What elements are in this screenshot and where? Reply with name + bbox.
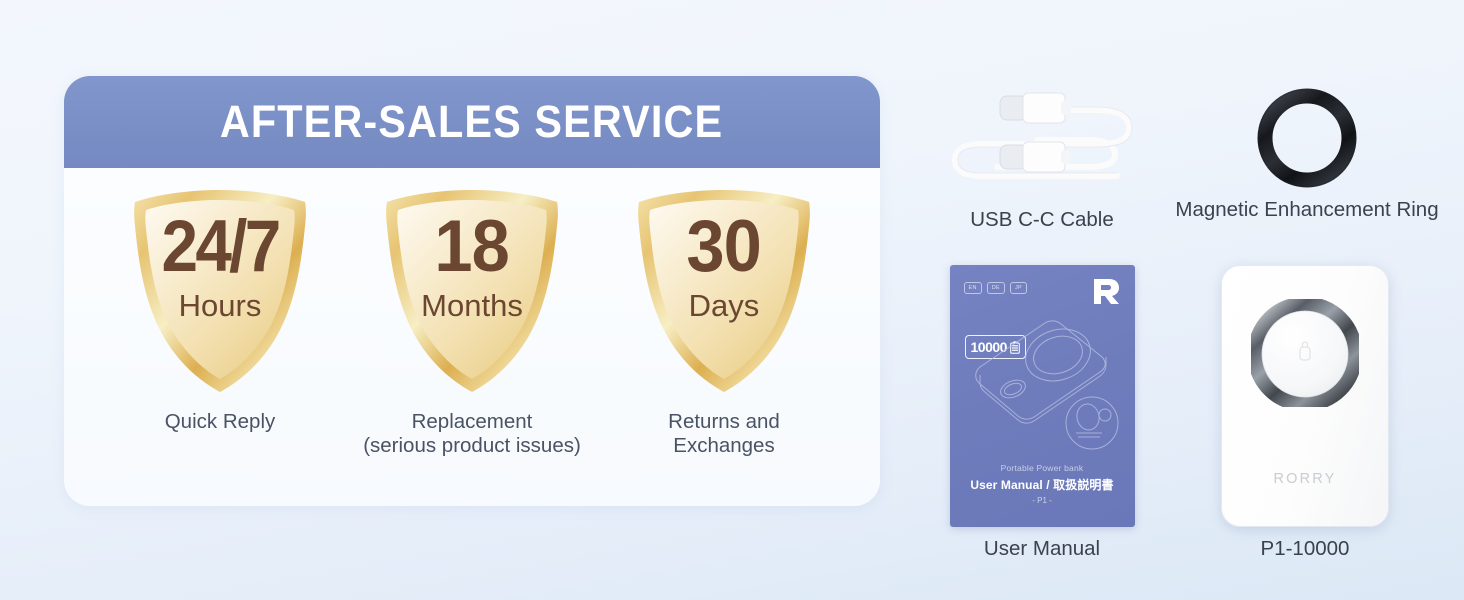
lang-badge-jp: JP <box>1010 282 1027 294</box>
usb-c-connector-top <box>1000 93 1071 123</box>
caption-line-1: Quick Reply <box>165 410 276 434</box>
shield-icon <box>125 186 315 396</box>
service-item-quick-reply: 24/7 Hours Quick Reply <box>95 186 345 434</box>
service-item-caption: Replacement (serious product issues) <box>363 410 581 458</box>
card-header: AFTER-SALES SERVICE <box>64 76 880 168</box>
power-bank-body: RORRY <box>1221 265 1389 527</box>
shield-icon <box>377 186 567 396</box>
package-item-label: USB C-C Cable <box>970 208 1114 232</box>
package-item-label: P1-10000 <box>1261 537 1350 561</box>
service-items-row: 24/7 Hours Quick Reply 18 Months <box>64 168 880 506</box>
manual-cover: EN DE JP 10000 <box>950 265 1135 527</box>
manual-footer-text: Portable Power bank User Manual / 取扱説明書 … <box>950 463 1135 505</box>
page-title: AFTER-SALES SERVICE <box>220 96 723 148</box>
service-item-replacement: 18 Months Replacement (serious product i… <box>347 186 597 458</box>
package-item-cable: USB C-C Cable <box>922 88 1162 232</box>
manual-product-illustration <box>950 305 1135 465</box>
rorry-logo-icon <box>1091 277 1121 305</box>
manual-subtitle: Portable Power bank <box>950 463 1135 473</box>
power-bank-brand-text: RORRY <box>1221 471 1389 487</box>
after-sales-service-card: AFTER-SALES SERVICE <box>64 76 880 506</box>
service-item-caption: Returns and Exchanges <box>668 410 780 458</box>
service-item-returns: 30 Days Returns and Exchanges <box>599 186 849 458</box>
lang-badge-de: DE <box>987 282 1005 294</box>
shield-icon <box>629 186 819 396</box>
package-contents: USB C-C Cable Magnetic Enhancement Ring … <box>900 70 1460 590</box>
service-item-caption: Quick Reply <box>165 410 276 434</box>
caption-line-1: Returns and <box>668 410 780 434</box>
lang-badge-en: EN <box>964 282 982 294</box>
shield-badge: 30 Days <box>629 186 819 396</box>
manual-model: - P1 - <box>950 496 1135 505</box>
package-item-manual: EN DE JP 10000 <box>922 265 1162 561</box>
shield-badge: 24/7 Hours <box>125 186 315 396</box>
package-item-ring: Magnetic Enhancement Ring <box>1162 88 1452 222</box>
magnetic-ring-icon <box>1257 88 1357 188</box>
usb-c-cable-icon <box>937 88 1147 198</box>
manual-title: User Manual / 取扱説明書 <box>950 476 1135 493</box>
shield-badge: 18 Months <box>377 186 567 396</box>
caption-line-1: Replacement <box>363 410 581 434</box>
usb-c-connector-bottom <box>1000 142 1071 172</box>
package-item-power-bank: RORRY P1-10000 <box>1180 265 1430 561</box>
caption-line-2: (serious product issues) <box>363 434 581 458</box>
package-item-label: Magnetic Enhancement Ring <box>1175 198 1438 222</box>
manual-language-badges: EN DE JP <box>964 282 1028 294</box>
power-bank-ring-icon <box>1251 299 1359 407</box>
package-item-label: User Manual <box>984 537 1100 561</box>
caption-line-2: Exchanges <box>668 434 780 458</box>
